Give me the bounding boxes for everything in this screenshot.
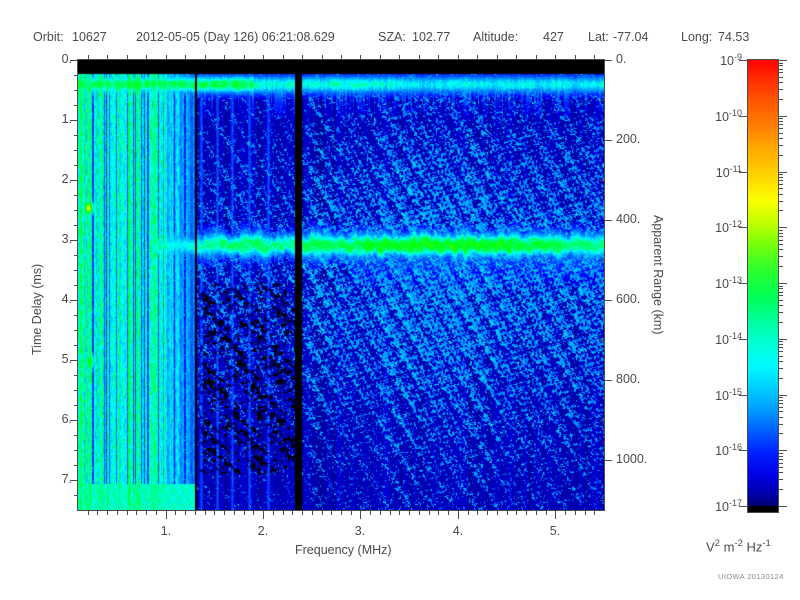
colorbar-tick-minor [778, 256, 783, 257]
x-tick-top [497, 55, 498, 60]
y2-tick-label: 0. [616, 52, 626, 66]
x-tick-top [302, 55, 303, 60]
y-tick-minor [74, 150, 78, 151]
colorbar-border [747, 59, 779, 513]
x-tick-top [205, 55, 206, 60]
colorbar-tick-minor [778, 89, 783, 90]
colorbar-tick-minor [778, 453, 783, 454]
y2-tick-minor [600, 180, 604, 181]
x-tick-minor [497, 510, 498, 515]
orbit-label: Orbit: [33, 30, 64, 44]
x-tick-minor [273, 510, 274, 515]
x-tick-minor [156, 510, 157, 515]
colorbar-tick-minor [778, 463, 783, 464]
x-tick-major [263, 510, 264, 519]
colorbar-tick-minor [778, 459, 783, 460]
x-tick-minor [146, 510, 147, 515]
x-tick-top [594, 55, 595, 60]
colorbar-tick-major [778, 172, 787, 173]
colorbar-tick-major [778, 395, 787, 396]
colorbar-tick-minor [778, 322, 783, 323]
y-tick-minor [74, 495, 78, 496]
colorbar-tick-minor [778, 467, 783, 468]
colorbar-tick-minor [778, 118, 783, 119]
y-tick-minor [74, 435, 78, 436]
y-tick-minor [74, 75, 78, 76]
plot-border-right [604, 59, 605, 511]
colorbar-tick-label: 10-17 [686, 498, 742, 514]
x-tick-minor [244, 510, 245, 515]
x-tick-minor [107, 510, 108, 515]
y-axis-title: Time Delay (ms) [30, 264, 44, 355]
x-tick-minor [565, 510, 566, 515]
colorbar-tick-label: 10-16 [686, 442, 742, 458]
y-tick-minor [74, 210, 78, 211]
colorbar-tick-minor [778, 456, 783, 457]
x-tick-minor [409, 510, 410, 515]
colorbar-tick-minor [778, 351, 783, 352]
colorbar-tick-label: 10-14 [686, 331, 742, 347]
colorbar-tick-major [778, 227, 787, 228]
colorbar-tick-minor [778, 82, 783, 83]
colorbar-tick-label: 10-9 [686, 52, 742, 68]
x-tick-minor [448, 510, 449, 515]
colorbar-tick-minor [778, 472, 783, 473]
colorbar-tick-minor [778, 403, 783, 404]
y-tick-minor [74, 225, 78, 226]
x-tick-minor [370, 510, 371, 515]
colorbar-tick-minor [778, 305, 783, 306]
colorbar-tick-minor [778, 397, 783, 398]
colorbar-tick-label: 10-11 [686, 164, 742, 180]
y2-tick-label: 1000. [616, 452, 647, 466]
ionogram-figure: Orbit: 10627 2012-05-05 (Day 126) 06:21:… [0, 0, 800, 600]
altitude-label: Altitude: [473, 30, 518, 44]
x-tick-minor [536, 510, 537, 515]
latitude-value: -77.04 [613, 30, 648, 44]
spectrogram-plot-area [78, 60, 604, 510]
y2-tick-minor [600, 420, 604, 421]
x-tick-minor [331, 510, 332, 515]
y2-tick-major [604, 60, 612, 61]
colorbar-tick-minor [778, 347, 783, 348]
colorbar-tick-minor [778, 489, 783, 490]
colorbar-tick-minor [778, 240, 783, 241]
x-tick-top [146, 55, 147, 60]
x-tick-minor [575, 510, 576, 515]
colorbar-tick-minor [778, 201, 783, 202]
x-tick-label: 5. [543, 524, 567, 538]
sza-label: SZA: [378, 30, 406, 44]
x-tick-minor [507, 510, 508, 515]
y-tick-minor [74, 405, 78, 406]
y-tick-minor [74, 375, 78, 376]
x-tick-top [555, 55, 556, 60]
y-tick-minor [74, 255, 78, 256]
colorbar-tick-label: 10-13 [686, 275, 742, 291]
colorbar-tick-minor [778, 194, 783, 195]
colorbar-tick-minor [778, 433, 783, 434]
colorbar-tick-major [778, 60, 787, 61]
orbit-value: 10627 [72, 30, 107, 44]
colorbar-tick-minor [778, 249, 783, 250]
altitude-value: 427 [543, 30, 564, 44]
y2-tick-label: 200. [616, 132, 640, 146]
x-tick-label: 2. [251, 524, 275, 538]
x-tick-top [360, 55, 361, 60]
x-tick-minor [380, 510, 381, 515]
x-tick-minor [526, 510, 527, 515]
x-tick-top [575, 55, 576, 60]
colorbar-tick-minor [778, 180, 783, 181]
x-tick-minor [127, 510, 128, 515]
x-tick-minor [224, 510, 225, 515]
colorbar-tick-minor [778, 300, 783, 301]
colorbar-tick-minor [778, 124, 783, 125]
x-tick-top [536, 55, 537, 60]
x-tick-minor [195, 510, 196, 515]
colorbar-tick-major [778, 339, 787, 340]
colorbar-tick-minor [778, 210, 783, 211]
x-tick-top [185, 55, 186, 60]
x-tick-minor [419, 510, 420, 515]
colorbar-tick-major [778, 116, 787, 117]
y-tick-label: 5. [44, 352, 72, 366]
x-tick-minor [136, 510, 137, 515]
colorbar-tick-minor [778, 407, 783, 408]
x-tick-minor [477, 510, 478, 515]
colorbar-tick-minor [778, 286, 783, 287]
colorbar-tick-label: 10-12 [686, 219, 742, 235]
x-tick-minor [205, 510, 206, 515]
colorbar-tick-minor [778, 72, 783, 73]
y2-tick-major [604, 300, 612, 301]
x-tick-minor [117, 510, 118, 515]
x-tick-minor [468, 510, 469, 515]
colorbar-tick-minor [778, 77, 783, 78]
x-tick-top [458, 55, 459, 60]
x-tick-top [263, 55, 264, 60]
x-tick-top [380, 55, 381, 60]
x-tick-minor [390, 510, 391, 515]
y-tick-minor [74, 465, 78, 466]
colorbar-tick-minor [778, 236, 783, 237]
x-tick-top [341, 55, 342, 60]
x-tick-minor [322, 510, 323, 515]
x-tick-minor [516, 510, 517, 515]
colorbar-tick-minor [778, 312, 783, 313]
colorbar-tick-minor [778, 411, 783, 412]
x-tick-minor [594, 510, 595, 515]
x-tick-label: 1. [154, 524, 178, 538]
x-tick-top [283, 55, 284, 60]
colorbar-tick-minor [778, 378, 783, 379]
x-axis-title: Frequency (MHz) [295, 543, 392, 557]
colorbar-tick-minor [778, 417, 783, 418]
x-tick-minor [292, 510, 293, 515]
x-tick-label: 4. [446, 524, 470, 538]
x-tick-minor [185, 510, 186, 515]
y-tick-label: 2. [44, 172, 72, 186]
colorbar-tick-minor [778, 244, 783, 245]
colorbar-tick-minor [778, 99, 783, 100]
x-tick-minor [312, 510, 313, 515]
colorbar-tick-minor [778, 292, 783, 293]
colorbar-tick-minor [778, 145, 783, 146]
y2-tick-label: 600. [616, 292, 640, 306]
colorbar-tick-minor [778, 424, 783, 425]
y-tick-label: 3. [44, 232, 72, 246]
spectrogram-canvas [78, 60, 604, 510]
colorbar-tick-major [778, 506, 787, 507]
colorbar-tick-minor [778, 356, 783, 357]
y2-tick-major [604, 460, 612, 461]
colorbar-tick-minor [778, 344, 783, 345]
x-tick-minor [175, 510, 176, 515]
y2-tick-minor [600, 260, 604, 261]
x-tick-top [127, 55, 128, 60]
y-tick-label: 4. [44, 292, 72, 306]
x-tick-top [107, 55, 108, 60]
colorbar-tick-minor [778, 177, 783, 178]
y-tick-minor [74, 165, 78, 166]
colorbar-tick-minor [778, 368, 783, 369]
colorbar-tick-minor [778, 121, 783, 122]
x-tick-minor [283, 510, 284, 515]
x-tick-minor [438, 510, 439, 515]
y2-tick-label: 800. [616, 372, 640, 386]
y2-tick-major [604, 380, 612, 381]
colorbar-tick-minor [778, 400, 783, 401]
x-tick-top [224, 55, 225, 60]
colorbar-tick-major [778, 450, 787, 451]
y-tick-minor [74, 90, 78, 91]
colorbar-tick-minor [778, 479, 783, 480]
x-tick-minor [546, 510, 547, 515]
x-tick-minor [302, 510, 303, 515]
y2-axis-title: Apparent Range (km) [651, 215, 665, 335]
x-tick-minor [351, 510, 352, 515]
x-tick-top [419, 55, 420, 60]
x-tick-minor [214, 510, 215, 515]
x-tick-label: 3. [348, 524, 372, 538]
y-tick-minor [74, 450, 78, 451]
colorbar-tick-label: 10-10 [686, 108, 742, 124]
x-tick-minor [88, 510, 89, 515]
y2-tick-minor [600, 100, 604, 101]
y-tick-label: 6. [44, 412, 72, 426]
y-tick-minor [74, 270, 78, 271]
x-tick-minor [234, 510, 235, 515]
x-tick-top [399, 55, 400, 60]
colorbar-tick-minor [778, 361, 783, 362]
colorbar-tick-minor [778, 184, 783, 185]
y-tick-minor [74, 390, 78, 391]
colorbar-tick-minor [778, 155, 783, 156]
y2-tick-minor [600, 340, 604, 341]
colorbar-tick-minor [778, 133, 783, 134]
colorbar-tick-major [778, 283, 787, 284]
colorbar-tick-minor [778, 174, 783, 175]
x-tick-top [88, 55, 89, 60]
y-tick-label: 7. [44, 472, 72, 486]
colorbar-tick-minor [778, 288, 783, 289]
colorbar-tick-minor [778, 230, 783, 231]
x-tick-minor [341, 510, 342, 515]
x-tick-major [360, 510, 361, 519]
colorbar-tick-minor [778, 65, 783, 66]
y-tick-minor [74, 135, 78, 136]
figure-header: Orbit: 10627 2012-05-05 (Day 126) 06:21:… [0, 30, 800, 46]
colorbar-tick-minor [778, 128, 783, 129]
x-tick-top [244, 55, 245, 60]
timestamp-value: 2012-05-05 (Day 126) 06:21:08.629 [136, 30, 335, 44]
x-tick-top [516, 55, 517, 60]
colorbar-tick-minor [778, 69, 783, 70]
y-tick-label: 0. [44, 52, 72, 66]
sza-value: 102.77 [412, 30, 450, 44]
colorbar-tick-minor [778, 295, 783, 296]
x-tick-minor [585, 510, 586, 515]
y-tick-minor [74, 315, 78, 316]
y-tick-minor [74, 345, 78, 346]
institution-credit: UIOWA 20130124 [718, 572, 784, 581]
colorbar-tick-minor [778, 266, 783, 267]
colorbar-tick-minor [778, 233, 783, 234]
x-tick-major [458, 510, 459, 519]
colorbar-tick-minor [778, 63, 783, 64]
y2-tick-minor [600, 500, 604, 501]
x-tick-top [477, 55, 478, 60]
y-tick-minor [74, 285, 78, 286]
y2-tick-major [604, 140, 612, 141]
x-tick-minor [253, 510, 254, 515]
colorbar-tick-minor [778, 188, 783, 189]
longitude-label: Long: [681, 30, 712, 44]
longitude-value: 74.53 [718, 30, 749, 44]
y-tick-label: 1. [44, 112, 72, 126]
x-tick-minor [429, 510, 430, 515]
y-tick-minor [74, 330, 78, 331]
colorbar-tick-label: 10-15 [686, 387, 742, 403]
y2-tick-major [604, 220, 612, 221]
x-tick-minor [487, 510, 488, 515]
x-tick-minor [97, 510, 98, 515]
colorbar-tick-minor [778, 341, 783, 342]
x-tick-top [438, 55, 439, 60]
colorbar-tick-minor [778, 138, 783, 139]
x-tick-top [322, 55, 323, 60]
y-tick-minor [74, 195, 78, 196]
x-tick-minor [399, 510, 400, 515]
y-tick-minor [74, 105, 78, 106]
colorbar-units-label: V2 m-2 Hz-1 [706, 538, 771, 554]
latitude-label: Lat: [588, 30, 609, 44]
x-tick-top [166, 55, 167, 60]
x-tick-major [166, 510, 167, 519]
y2-tick-label: 400. [616, 212, 640, 226]
x-tick-major [555, 510, 556, 519]
